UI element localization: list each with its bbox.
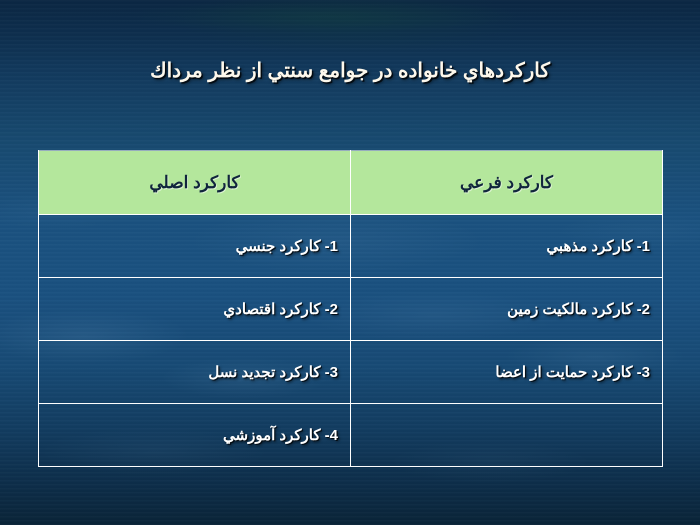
cell-sub-function: 2- كاركرد مالكيت زمين bbox=[351, 278, 663, 341]
slide-title-block: كاركردهاي خانواده در جوامع سنتي از نظر م… bbox=[40, 58, 660, 84]
slide-canvas: كاركردهاي خانواده در جوامع سنتي از نظر م… bbox=[0, 0, 700, 525]
table-row: 4- كاركرد آموزشي bbox=[39, 404, 663, 467]
cell-main-function: 4- كاركرد آموزشي bbox=[39, 404, 351, 467]
table-body: 1- كاركرد جنسي 1- كاركرد مذهبي 2- كاركرد… bbox=[39, 215, 663, 467]
cell-sub-function: 3- كاركرد حمايت از اعضا bbox=[351, 341, 663, 404]
column-header-main-function: كاركرد اصلي bbox=[39, 151, 351, 215]
table-row: 2- كاركرد اقتصادي 2- كاركرد مالكيت زمين bbox=[39, 278, 663, 341]
page-title: كاركردهاي خانواده در جوامع سنتي از نظر م… bbox=[40, 58, 660, 84]
cell-sub-function: 1- كاركرد مذهبي bbox=[351, 215, 663, 278]
table-header: كاركرد اصلي كاركرد فرعي bbox=[39, 151, 663, 215]
table-header-row: كاركرد اصلي كاركرد فرعي bbox=[39, 151, 663, 215]
column-header-sub-function: كاركرد فرعي bbox=[351, 151, 663, 215]
family-functions-table: كاركرد اصلي كاركرد فرعي 1- كاركرد جنسي 1… bbox=[38, 150, 663, 467]
cell-main-function: 3- كاركرد تجديد نسل bbox=[39, 341, 351, 404]
cell-main-function: 2- كاركرد اقتصادي bbox=[39, 278, 351, 341]
table-row: 3- كاركرد تجديد نسل 3- كاركرد حمايت از ا… bbox=[39, 341, 663, 404]
table-row: 1- كاركرد جنسي 1- كاركرد مذهبي bbox=[39, 215, 663, 278]
cell-sub-function-empty bbox=[351, 404, 663, 467]
cell-main-function: 1- كاركرد جنسي bbox=[39, 215, 351, 278]
